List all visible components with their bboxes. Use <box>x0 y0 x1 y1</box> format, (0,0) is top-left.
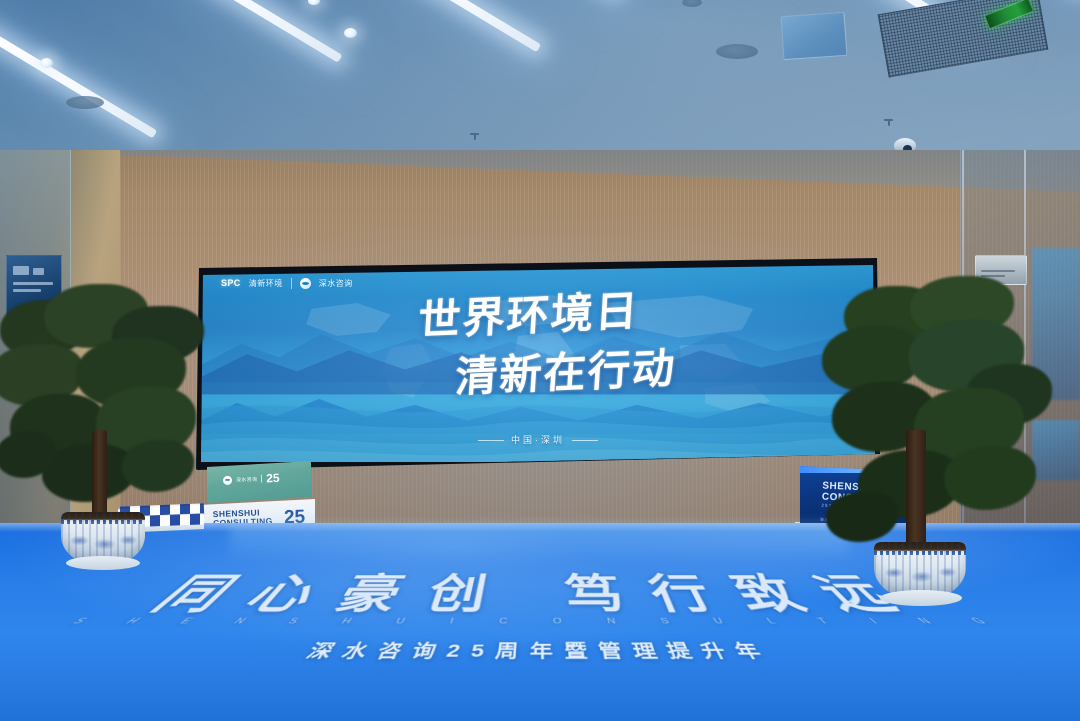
shenshui-logo-icon <box>223 475 232 484</box>
led-video-wall[interactable]: SPC 清新环境 深水咨询 世界环境日 清新在行动 中国·深圳 <box>196 258 880 470</box>
wall-control-plaque[interactable] <box>975 255 1027 285</box>
subtitle-rule-right <box>572 440 598 441</box>
floor-screen-reflection <box>230 523 850 563</box>
planter-saucer-right <box>880 590 962 606</box>
shenshui-logo-icon <box>300 278 311 289</box>
screen-subtitle-text: 中国·深圳 <box>511 435 565 445</box>
left-wall-poster <box>6 255 62 323</box>
glass-reflection-podium <box>1032 420 1080 480</box>
podium-right-text: SHENSHUI CONSULTING 25TH ANNIVERSARY <box>821 481 892 511</box>
led-screen-content: SPC 清新环境 深水咨询 世界环境日 清新在行动 中国·深圳 <box>201 264 875 462</box>
smoke-detector-icon <box>66 96 104 109</box>
logo-divider <box>291 278 292 289</box>
sprinkler-head-icon <box>884 119 893 128</box>
podium-left-divider <box>261 475 262 483</box>
glass-reflection-screen <box>1032 248 1080 400</box>
screen-brand-logos: SPC 清新环境 深水咨询 <box>221 278 353 289</box>
spc-logo-text: SPC <box>221 279 241 288</box>
podium-left-anniv: 25 <box>266 472 280 485</box>
podium-left-logo: 深水咨询 25 <box>223 472 280 486</box>
spc-logo-cn: 清新环境 <box>249 280 283 288</box>
podium-left-top: 深水咨询 25 <box>207 461 311 503</box>
recessed-downlight-icon <box>344 28 357 38</box>
subtitle-rule-left <box>478 440 504 441</box>
left-glass-partition <box>0 150 71 570</box>
podium-right-line3: 25TH ANNIVERSARY <box>821 504 891 511</box>
shenshui-logo-cn: 深水咨询 <box>319 280 353 288</box>
sprinkler-head-icon <box>470 133 479 142</box>
planter-saucer-left <box>66 556 140 570</box>
smoke-detector-icon <box>716 44 758 59</box>
room-scene: SPC 清新环境 深水咨询 世界环境日 清新在行动 中国·深圳 深水咨询 <box>0 0 1080 721</box>
podium-left-brand-cn: 深水咨询 <box>236 475 257 483</box>
screen-subtitle: 中国·深圳 <box>201 433 875 446</box>
recessed-downlight-icon <box>40 58 53 68</box>
ceiling-skylight-panel <box>781 12 848 60</box>
